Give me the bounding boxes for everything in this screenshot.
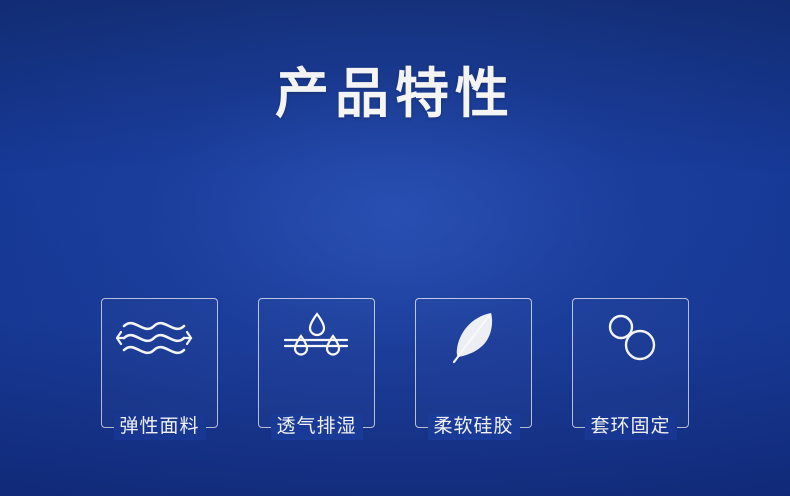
feature-card-breathable[interactable]: 透气排湿 [258, 298, 375, 428]
page-title: 产品特性 [0, 62, 790, 126]
feature-label: 弹性面料 [113, 414, 205, 440]
feature-label: 透气排湿 [270, 414, 362, 440]
feature-card-elastic-fabric[interactable]: 弹性面料 [101, 298, 218, 428]
water-droplets-icon [259, 299, 374, 377]
product-features-banner: 产品特性 弹性面料 [0, 0, 790, 496]
feather-icon [416, 299, 531, 377]
feature-card-ring-fixation[interactable]: 套环固定 [572, 298, 689, 428]
feature-label: 套环固定 [584, 414, 676, 440]
feature-card-soft-silicone[interactable]: 柔软硅胶 [415, 298, 532, 428]
two-rings-icon [573, 299, 688, 377]
feature-card-list: 弹性面料 透气排湿 [0, 298, 790, 428]
feature-label: 柔软硅胶 [427, 414, 519, 440]
wavy-lines-icon [102, 299, 217, 377]
